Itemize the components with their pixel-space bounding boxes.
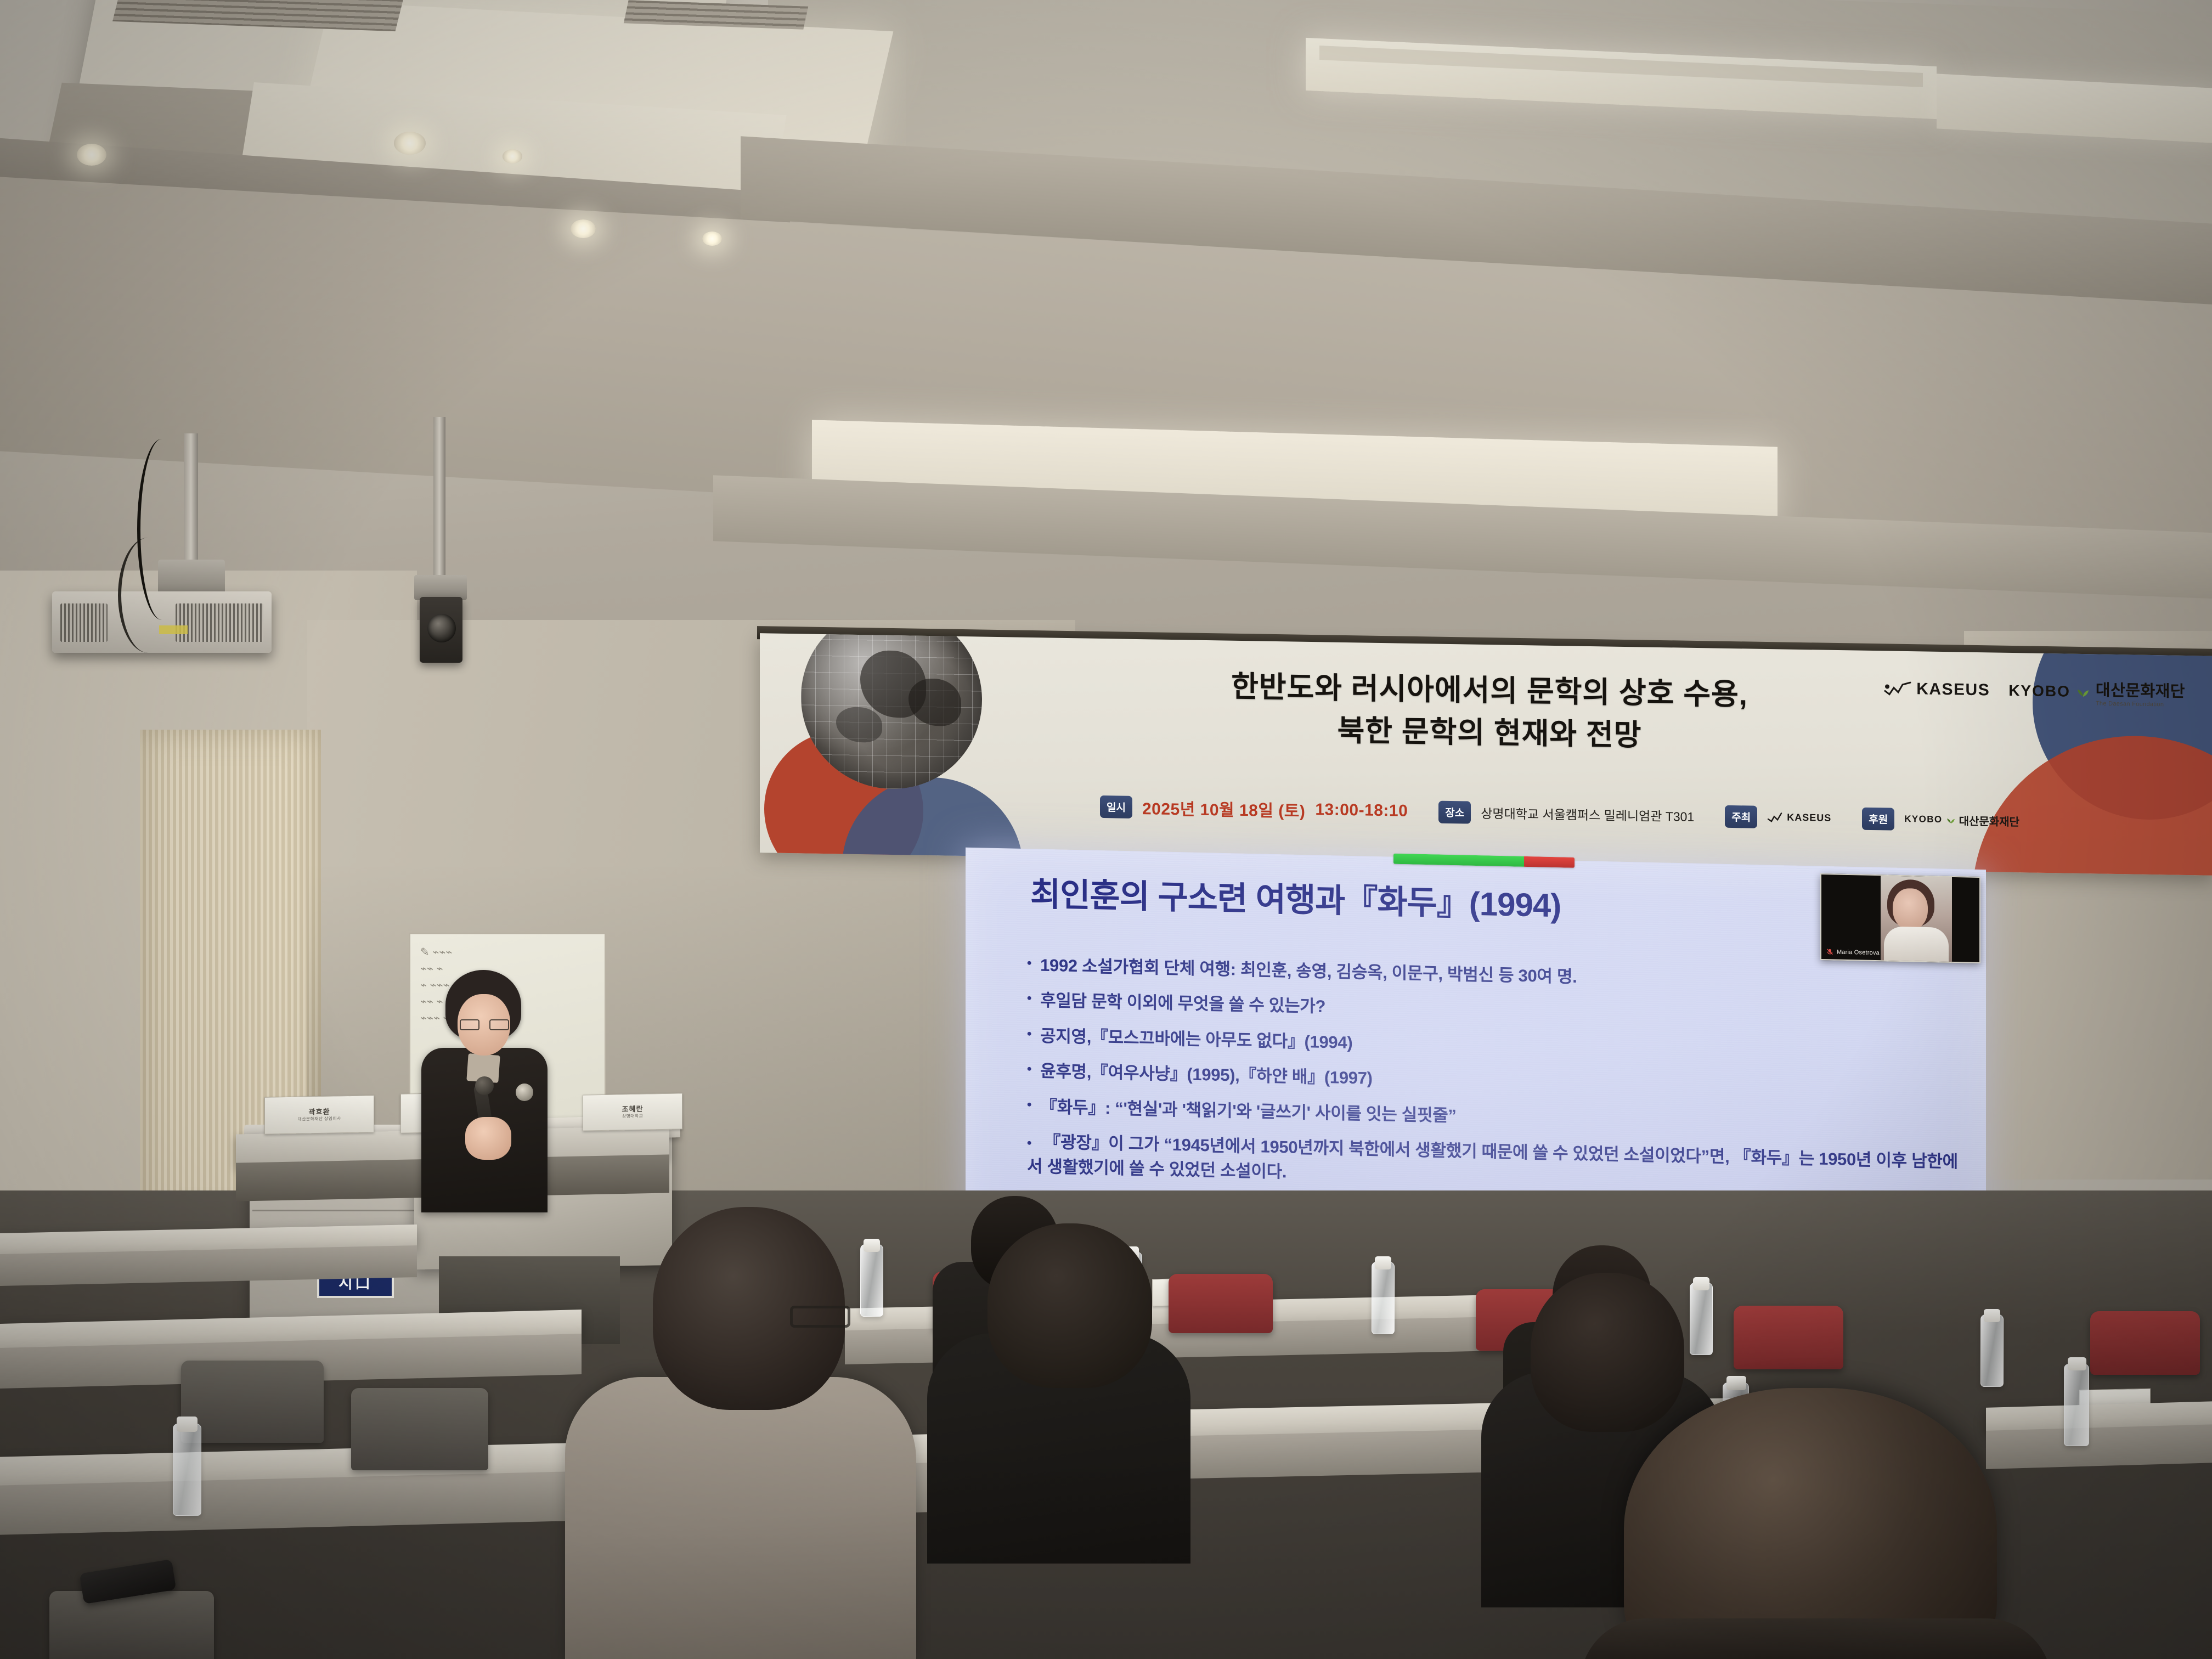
audience-head — [988, 1223, 1152, 1388]
water-bottle-cap — [1693, 1277, 1709, 1290]
ceiling-beam-right-face — [713, 554, 2212, 598]
host-tag: 주최 — [1725, 805, 1757, 828]
presenter-glasses-icon — [460, 1019, 509, 1031]
water-bottle-cap — [1984, 1309, 2000, 1322]
audience-head — [1531, 1273, 1684, 1432]
chair-red[interactable] — [2090, 1311, 2200, 1375]
place-tag: 장소 — [1438, 800, 1471, 823]
downlight-2 — [394, 132, 426, 155]
kaseus-logo: KASEUS — [1884, 679, 1990, 699]
audience-desk-front — [1986, 1424, 2212, 1469]
host-value: KASEUS — [1787, 811, 1831, 823]
bullet-text: 『화두』: “'현실'과 '책읽기'와 '글쓰기' 사이를 잇는 실핏줄” — [1040, 1094, 1457, 1127]
chair-red[interactable] — [1734, 1306, 1843, 1369]
bullet-item: • 후일담 문학 이외에 무엇을 쓸 수 있는가? — [1027, 989, 1960, 1032]
bullet-dot-icon: • — [1027, 1059, 1031, 1083]
downlight-5 — [702, 232, 722, 246]
bullet-item: • 『광장』이 그가 “1945년에서 1950년까지 북한에서 생활했기 때문… — [1027, 1130, 1960, 1199]
participant-name-text: Maria Osetrova — [1837, 949, 1880, 956]
bullet-dot-icon: • — [1027, 1024, 1031, 1048]
water-bottle — [1372, 1262, 1395, 1334]
water-bottle-cap — [1726, 1376, 1746, 1390]
slide-bullet-list: • 1992 소설가협회 단체 여행: 최인훈, 송영, 김승옥, 이문구, 박… — [1027, 953, 1960, 1211]
name-card-name — [2114, 1396, 2116, 1404]
lecture-hall-photo: ✎ ⌁⌁⌁⌁⌁ ⌁⌁ ⌁⌁⌁⌁⌁ ⌁⌁⌁⌁ ⌁ 한반도와 러시아에서의 문학의 … — [0, 0, 2212, 1659]
sponsor-value-1: KYOBO — [1904, 814, 1942, 825]
water-bottle — [173, 1424, 201, 1516]
presenter-lapel-pin — [516, 1084, 533, 1101]
participant-face — [1893, 888, 1928, 930]
audience-torso — [1580, 1618, 2052, 1659]
participant-name-label: Maria Osetrova — [1826, 948, 1880, 956]
placard-affiliation: 대산문화재단 상임이사 — [297, 1116, 341, 1123]
participant-video-feed — [1881, 876, 1952, 963]
downlight-3 — [503, 149, 522, 163]
kaseus-mark-icon — [1884, 680, 1912, 698]
water-bottle-cap — [864, 1239, 880, 1252]
bullet-text: 윤후명,『여우사냥』(1995),『하얀 배』(1997) — [1040, 1059, 1373, 1091]
bullet-text: 공지영,『모스끄바에는 아무도 없다』(1994) — [1040, 1024, 1352, 1054]
audience-torso — [565, 1377, 916, 1659]
date-tag: 일시 — [1100, 795, 1132, 818]
water-bottle — [2064, 1364, 2089, 1446]
name-placard: 조혜란 상명대학교 — [583, 1093, 682, 1131]
sponsor-value-2: 대산문화재단 — [1959, 812, 2019, 829]
bullet-item: • 공지영,『모스끄바에는 아무도 없다』(1994) — [1027, 1024, 1960, 1068]
time-value: 13:00-18:10 — [1315, 800, 1408, 821]
ceiling — [0, 0, 2212, 647]
water-bottle — [860, 1244, 883, 1317]
projector-vent-left — [60, 603, 108, 642]
banner-logo-group: KASEUS KYOBO 대산문화재단 The Daesan Foundatio… — [1884, 674, 2185, 708]
bullet-item: • 윤후명,『여우사냥』(1995),『하얀 배』(1997) — [1027, 1059, 1960, 1103]
kaseus-mini-mark-icon — [1767, 811, 1784, 822]
chair[interactable] — [351, 1388, 488, 1470]
sponsor-logo: KYOBO 대산문화재단 — [1904, 811, 2019, 828]
kyobo-daesan-logo: KYOBO 대산문화재단 The Daesan Foundation — [2008, 676, 2185, 708]
projector-vent-right — [176, 603, 263, 642]
downlight-4 — [571, 219, 596, 238]
placard-name: 조혜란 — [622, 1104, 644, 1114]
zoom-toolbar-red-section[interactable] — [1524, 856, 1575, 868]
bullet-text: 후일담 문학 이외에 무엇을 쓸 수 있는가? — [1040, 989, 1325, 1019]
daesan-ko-name: 대산문화재단 — [2096, 677, 2185, 702]
bullet-text: 『광장』이 그가 “1945년에서 1950년까지 북한에서 생활했기 때문에 … — [1027, 1132, 1958, 1182]
water-bottle-cap — [1375, 1256, 1391, 1269]
chair[interactable] — [49, 1591, 214, 1659]
zoom-participant-tile[interactable]: Maria Osetrova — [1820, 873, 1980, 963]
sponsor-tag: 후원 — [1862, 807, 1894, 830]
audience-glasses-icon — [790, 1306, 850, 1328]
date-value: 2025년 10월 18일 (토) — [1142, 795, 1305, 822]
bullet-dot-icon: • — [1027, 1094, 1031, 1119]
water-bottle — [1980, 1314, 2004, 1387]
microphone-head-icon — [475, 1076, 494, 1095]
banner-title: 한반도와 러시아에서의 문학의 상호 수용, 북한 문학의 현재와 전망 — [1133, 664, 1846, 760]
water-bottle — [1690, 1283, 1713, 1355]
place-value: 상명대학교 서울캠퍼스 밀레니엄관 T301 — [1481, 803, 1694, 825]
kaseus-wordmark: KASEUS — [1916, 680, 1990, 699]
chair[interactable] — [181, 1361, 324, 1443]
downlight-1 — [77, 144, 106, 166]
mic-muted-icon — [1826, 948, 1833, 955]
chair-red[interactable] — [1169, 1274, 1273, 1333]
bullet-dot-icon: • — [1027, 1136, 1031, 1150]
camera-lens — [427, 614, 456, 642]
conference-banner: 한반도와 러시아에서의 문학의 상호 수용, 북한 문학의 현재와 전망 KAS… — [760, 633, 2212, 876]
participant-torso — [1884, 926, 1949, 963]
placard-affiliation: 상명대학교 — [622, 1114, 643, 1120]
sprout-mini-icon — [1946, 816, 1956, 824]
name-placard: 곽효환 대산문화재단 상임이사 — [264, 1095, 374, 1134]
bullet-item: • 『화두』: “'현실'과 '책읽기'와 '글쓰기' 사이를 잇는 실핏줄” — [1027, 1094, 1960, 1138]
water-bottle-cap — [177, 1417, 198, 1432]
bullet-dot-icon: • — [1027, 989, 1031, 1013]
host-logo: KASEUS — [1767, 811, 1831, 824]
camera-mount-pole — [433, 417, 445, 582]
water-bottle-cap — [2068, 1357, 2086, 1370]
presenter-hands — [465, 1117, 511, 1160]
bullet-dot-icon: • — [1027, 953, 1031, 977]
sprout-icon — [2076, 686, 2090, 698]
projector-cable-2 — [118, 538, 178, 653]
placard-name: 곽효환 — [309, 1107, 330, 1116]
kyobo-wordmark: KYOBO — [2008, 682, 2070, 701]
